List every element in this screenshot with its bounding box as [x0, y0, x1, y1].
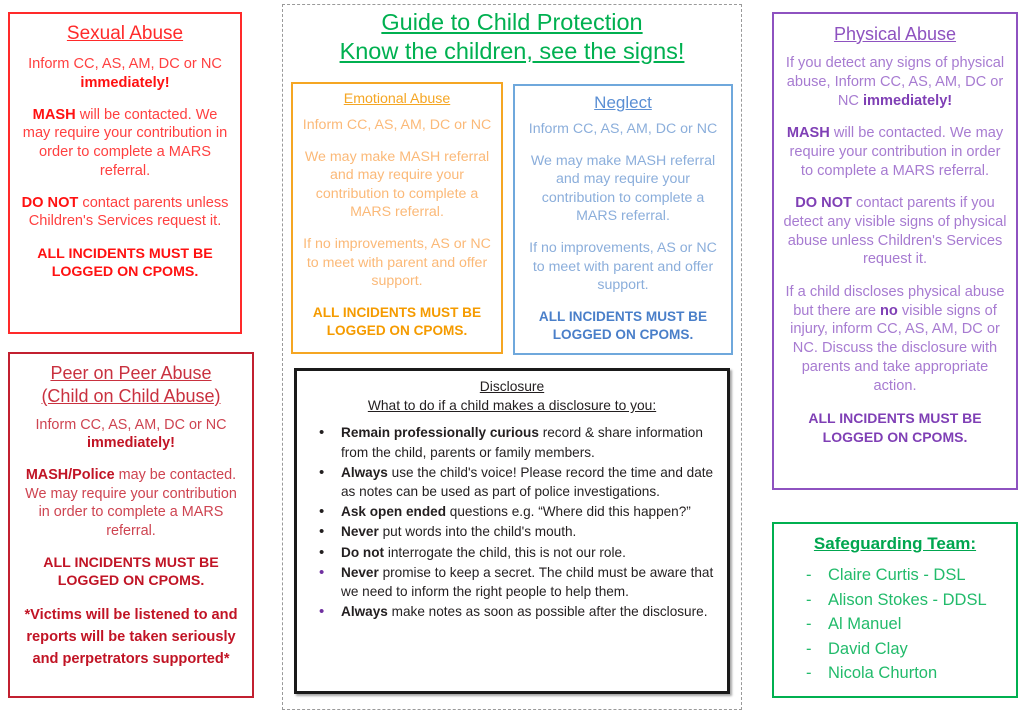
- disclosure-item-text: questions e.g. “Where did this happen?”: [446, 504, 691, 519]
- spacer: [523, 138, 723, 152]
- disclosure-item-emphasis: Do not: [341, 545, 384, 560]
- safeguarding-team-title: Safeguarding Team:: [784, 533, 1006, 555]
- disclosure-item-emphasis: Ask open ended: [341, 504, 446, 519]
- dash-icon: -: [806, 588, 812, 613]
- physical-abuse-p3-emphasis: DO NOT: [795, 195, 852, 211]
- peer-abuse-cpoms-notice: ALL INCIDENTS MUST BE LOGGED ON CPOMS.: [18, 554, 244, 591]
- disclosure-title: Disclosure: [307, 378, 717, 396]
- physical-abuse-para-3: DO NOT contact parents if you detect any…: [783, 194, 1007, 269]
- emotional-abuse-cpoms-notice: ALL INCIDENTS MUST BE LOGGED ON CPOMS.: [301, 304, 493, 340]
- emotional-abuse-para-1: Inform CC, AS, AM, DC or NC: [301, 116, 493, 134]
- disclosure-item-text: interrogate the child, this is not our r…: [384, 545, 626, 560]
- sexual-abuse-p3-emphasis: DO NOT: [22, 195, 79, 211]
- peer-abuse-p1-emphasis: immediately!: [87, 435, 175, 451]
- spacer: [301, 134, 493, 148]
- sexual-abuse-para-1: Inform CC, AS, AM, DC or NC immediately!: [19, 55, 231, 92]
- dash-icon: -: [806, 563, 812, 588]
- safeguarding-team-member: -David Clay: [784, 637, 1006, 662]
- neglect-para-1: Inform CC, AS, AM, DC or NC: [523, 120, 723, 138]
- disclosure-list-item: •Do not interrogate the child, this is n…: [307, 543, 717, 563]
- physical-abuse-para-1: If you detect any signs of physical abus…: [783, 54, 1007, 110]
- bullet-icon: •: [319, 543, 324, 563]
- bullet-icon: •: [319, 463, 324, 483]
- disclosure-item-text: use the child's voice! Please record the…: [341, 465, 713, 500]
- safeguarding-team-list: -Claire Curtis - DSL-Alison Stokes - DDS…: [784, 563, 1006, 686]
- emotional-abuse-panel: Emotional Abuse Inform CC, AS, AM, DC or…: [291, 82, 503, 354]
- spacer: [18, 591, 244, 605]
- spacer: [19, 92, 231, 106]
- guide-title: Guide to Child Protection Know the child…: [284, 8, 740, 66]
- peer-abuse-victims-line2: reports will be taken seriously: [18, 626, 244, 648]
- spacer: [18, 453, 244, 467]
- disclosure-item-text: make notes as soon as possible after the…: [388, 604, 708, 619]
- sexual-abuse-para-3: DO NOT contact parents unless Children's…: [19, 194, 231, 231]
- disclosure-list-item: •Never put words into the child's mouth.: [307, 522, 717, 542]
- neglect-cpoms-notice: ALL INCIDENTS MUST BE LOGGED ON CPOMS.: [523, 308, 723, 344]
- spacer: [523, 226, 723, 240]
- peer-abuse-p2-emphasis: MASH/Police: [26, 467, 115, 483]
- safeguarding-team-member-name: Alison Stokes - DDSL: [828, 591, 987, 609]
- disclosure-panel: Disclosure What to do if a child makes a…: [294, 368, 730, 694]
- spacer: [301, 222, 493, 236]
- sexual-abuse-p1-text: Inform CC, AS, AM, DC or NC: [28, 56, 222, 72]
- dash-icon: -: [806, 612, 812, 637]
- neglect-para-3: If no improvements, AS or NC to meet wit…: [523, 239, 723, 294]
- physical-abuse-para-4: If a child discloses physical abuse but …: [783, 283, 1007, 396]
- disclosure-list: •Remain professionally curious record & …: [307, 423, 717, 622]
- emotional-abuse-para-3: If no improvements, AS or NC to meet wit…: [301, 235, 493, 290]
- spacer: [523, 294, 723, 308]
- spacer: [783, 110, 1007, 124]
- safeguarding-team-member-name: Claire Curtis - DSL: [828, 566, 966, 584]
- peer-abuse-title-line2: (Child on Child Abuse): [18, 385, 244, 408]
- disclosure-item-text: put words into the child's mouth.: [379, 524, 577, 539]
- physical-abuse-panel: Physical Abuse If you detect any signs o…: [772, 12, 1018, 490]
- emotional-abuse-para-2: We may make MASH referral and may requir…: [301, 148, 493, 222]
- neglect-title: Neglect: [523, 92, 723, 114]
- sexual-abuse-p2-emphasis: MASH: [33, 107, 76, 123]
- spacer: [783, 180, 1007, 194]
- safeguarding-team-member: -Al Manuel: [784, 612, 1006, 637]
- bullet-icon: •: [319, 502, 324, 522]
- sexual-abuse-cpoms-notice: ALL INCIDENTS MUST BE LOGGED ON CPOMS.: [19, 245, 231, 282]
- disclosure-item-emphasis: Never: [341, 524, 379, 539]
- bullet-icon: •: [319, 602, 324, 622]
- safeguarding-team-member: -Alison Stokes - DDSL: [784, 588, 1006, 613]
- neglect-panel: Neglect Inform CC, AS, AM, DC or NC We m…: [513, 84, 733, 355]
- physical-abuse-cpoms-notice: ALL INCIDENTS MUST BE LOGGED ON CPOMS.: [783, 409, 1007, 446]
- physical-abuse-para-2: MASH will be contacted. We may require y…: [783, 124, 1007, 180]
- safeguarding-team-member-name: Al Manuel: [828, 615, 901, 633]
- peer-abuse-p1-text: Inform CC, AS, AM, DC or NC: [35, 417, 226, 433]
- physical-abuse-p4-emphasis: no: [880, 303, 898, 319]
- safeguarding-team-member-name: Nicola Churton: [828, 664, 937, 682]
- physical-abuse-p1-emphasis: immediately!: [863, 93, 952, 109]
- disclosure-list-item: •Never promise to keep a secret. The chi…: [307, 563, 717, 602]
- peer-abuse-victims-line1: *Victims will be listened to and: [18, 604, 244, 626]
- disclosure-item-emphasis: Always: [341, 604, 388, 619]
- disclosure-list-item: •Always make notes as soon as possible a…: [307, 602, 717, 622]
- peer-abuse-para-1: Inform CC, AS, AM, DC or NC immediately!: [18, 416, 244, 453]
- bullet-icon: •: [319, 563, 324, 583]
- safeguarding-team-member-name: David Clay: [828, 640, 908, 658]
- neglect-para-2: We may make MASH referral and may requir…: [523, 152, 723, 226]
- sexual-abuse-para-2: MASH will be contacted. We may require y…: [19, 106, 231, 180]
- spacer: [19, 231, 231, 245]
- spacer: [301, 290, 493, 304]
- spacer: [783, 269, 1007, 283]
- guide-title-line1: Guide to Child Protection: [284, 8, 740, 37]
- physical-abuse-p2-emphasis: MASH: [787, 125, 830, 141]
- physical-abuse-title: Physical Abuse: [783, 22, 1007, 46]
- spacer: [18, 540, 244, 554]
- guide-title-line2: Know the children, see the signs!: [284, 37, 740, 66]
- child-protection-poster: Sexual Abuse Inform CC, AS, AM, DC or NC…: [0, 0, 1024, 717]
- safeguarding-team-member: -Claire Curtis - DSL: [784, 563, 1006, 588]
- sexual-abuse-title: Sexual Abuse: [19, 22, 231, 46]
- spacer: [783, 396, 1007, 410]
- disclosure-list-item: •Remain professionally curious record & …: [307, 423, 717, 462]
- peer-on-peer-abuse-panel: Peer on Peer Abuse (Child on Child Abuse…: [8, 352, 254, 698]
- safeguarding-team-panel: Safeguarding Team: -Claire Curtis - DSL-…: [772, 522, 1018, 698]
- safeguarding-team-member: -Nicola Churton: [784, 661, 1006, 686]
- peer-abuse-title-line1: Peer on Peer Abuse: [18, 362, 244, 385]
- dash-icon: -: [806, 637, 812, 662]
- disclosure-item-emphasis: Remain professionally curious: [341, 425, 539, 440]
- disclosure-list-item: •Ask open ended questions e.g. “Where di…: [307, 502, 717, 522]
- bullet-icon: •: [319, 423, 324, 443]
- peer-abuse-para-2: MASH/Police may be contacted. We may req…: [18, 466, 244, 540]
- peer-abuse-victims-line3: and perpetrators supported*: [18, 648, 244, 670]
- disclosure-subtitle: What to do if a child makes a disclosure…: [307, 396, 717, 415]
- sexual-abuse-p1-emphasis: immediately!: [80, 75, 169, 91]
- disclosure-list-item: •Always use the child's voice! Please re…: [307, 463, 717, 502]
- bullet-icon: •: [319, 522, 324, 542]
- disclosure-item-text: promise to keep a secret. The child must…: [341, 565, 713, 600]
- emotional-abuse-title: Emotional Abuse: [301, 90, 493, 109]
- disclosure-item-emphasis: Always: [341, 465, 388, 480]
- disclosure-item-emphasis: Never: [341, 565, 379, 580]
- dash-icon: -: [806, 661, 812, 686]
- sexual-abuse-panel: Sexual Abuse Inform CC, AS, AM, DC or NC…: [8, 12, 242, 334]
- spacer: [19, 180, 231, 194]
